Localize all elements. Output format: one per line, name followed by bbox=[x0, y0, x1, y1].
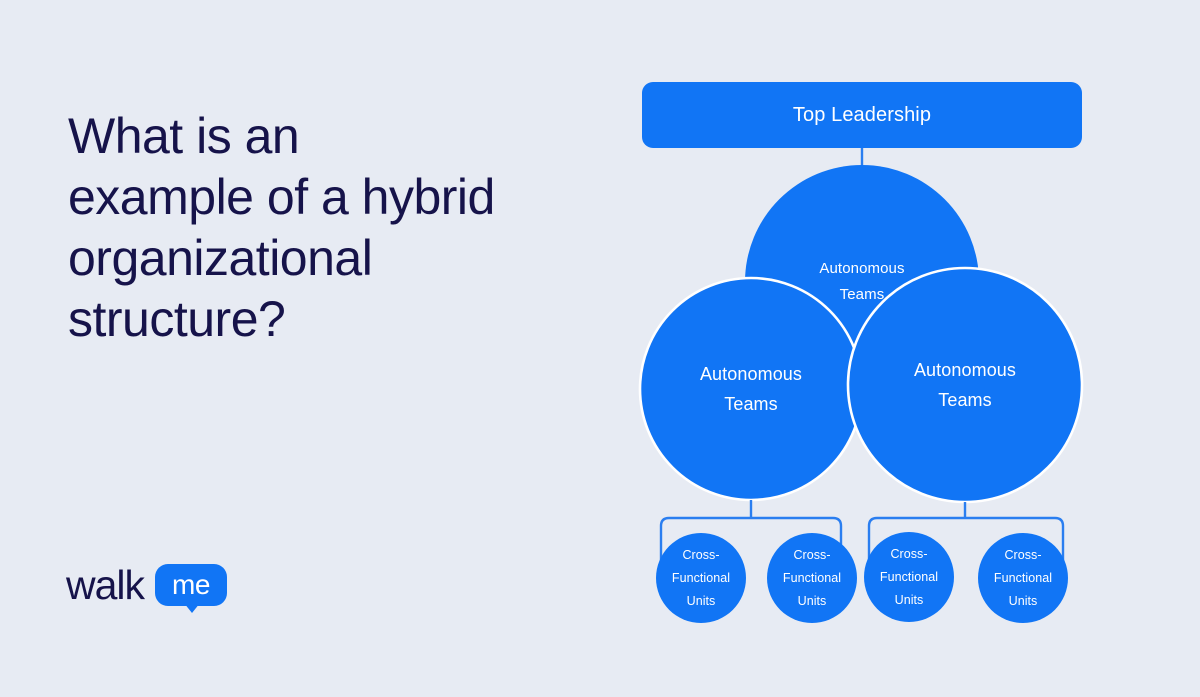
org-structure-diagram: Top Leadership Autonomous Teams Autonomo… bbox=[620, 60, 1120, 660]
circle-left-team[interactable] bbox=[640, 278, 862, 500]
logo-speech-bubble-icon: me bbox=[155, 564, 227, 606]
page-root: What is an example of a hybrid organizat… bbox=[0, 0, 1200, 697]
circle-unit-1[interactable] bbox=[656, 533, 746, 623]
circle-right-team[interactable] bbox=[848, 268, 1082, 502]
circle-unit-4[interactable] bbox=[978, 533, 1068, 623]
logo-wordmark-walk: walk bbox=[66, 563, 144, 607]
walkme-logo: walk me bbox=[66, 560, 236, 612]
circle-unit-3[interactable] bbox=[864, 532, 954, 622]
logo-wordmark-me: me bbox=[155, 564, 227, 606]
top-leadership-box[interactable] bbox=[642, 82, 1082, 148]
page-title: What is an example of a hybrid organizat… bbox=[68, 106, 498, 350]
circle-unit-2[interactable] bbox=[767, 533, 857, 623]
diagram-graphics bbox=[620, 60, 1120, 660]
